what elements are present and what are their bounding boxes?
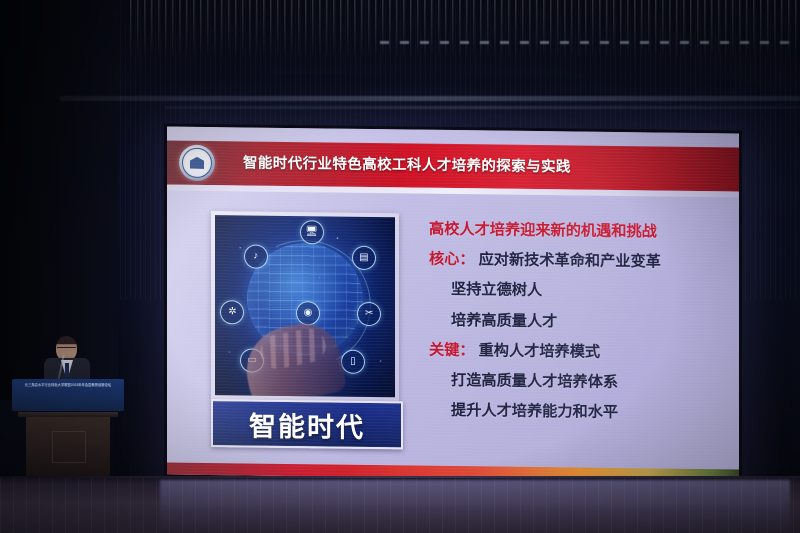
podium-banner-panel: 长三角高水平行业特色大学联盟2023年年会暨教育创新论坛	[12, 379, 124, 411]
id-card-icon: ▤	[352, 246, 376, 270]
emblem-ring	[182, 148, 212, 178]
slide-body-line-lead: 关键：	[429, 341, 475, 360]
slide-body-line-text: 培养高质量人才	[451, 311, 557, 330]
ceiling-rafters	[130, 0, 800, 60]
slide-body-line: 培养高质量人才	[429, 312, 729, 331]
slide-body-line-text: 重构人才培养模式	[479, 341, 601, 360]
slide-body-line-text: 提升人才培养能力和水平	[451, 401, 618, 421]
slide-body-line-text: 打造高质量人才培养体系	[451, 371, 618, 391]
slide-body-line-lead: 核心：	[429, 250, 475, 269]
podium-sign-text: 长三角高水平行业特色大学联盟2023年年会暨教育创新论坛	[18, 383, 118, 405]
music-note-icon: ♪	[244, 244, 268, 268]
slide-body-line: 打造高质量人才培养体系	[429, 373, 729, 392]
image-caption-text: 智能时代	[249, 404, 365, 444]
tools-icon: ✂	[357, 301, 381, 325]
slide-body-line-text: 坚持立德树人	[451, 280, 542, 299]
balcony-rail-lower	[165, 106, 800, 109]
university-emblem-icon	[179, 145, 215, 181]
stage-floor-planks	[0, 478, 800, 533]
slide-body-line-text: 应对新技术革命和产业变革	[479, 251, 661, 271]
podium: 长三角高水平行业特色大学联盟2023年年会暨教育创新论坛	[12, 379, 124, 481]
projection-screen-frame: 智能时代行业特色高校工科人才培养的探索与实践 🖥♪▤✲◉✂▭▯	[164, 123, 742, 487]
gear-icon: ✲	[220, 300, 244, 324]
slide-body-line: 提升人才培养能力和水平	[429, 403, 729, 422]
slide-image-frame: 🖥♪▤✲◉✂▭▯	[211, 211, 399, 401]
auditorium-scene: 智能时代行业特色高校工科人才培养的探索与实践 🖥♪▤✲◉✂▭▯	[0, 0, 800, 533]
slide-body-line: 坚持立德树人	[429, 282, 729, 301]
slide-body-line: 核心：应对新技术革命和产业变革	[429, 252, 729, 271]
presentation-slide: 智能时代行业特色高校工科人才培养的探索与实践 🖥♪▤✲◉✂▭▯	[167, 127, 739, 482]
slide-body-line-text: 高校人才培养迎来新的机遇和挑战	[429, 220, 657, 241]
slide-title: 智能时代行业特色高校工科人才培养的探索与实践	[243, 141, 571, 189]
fingerprint-icon: ◉	[296, 301, 320, 325]
ceiling-light-strip	[380, 41, 800, 44]
monitor-icon: 🖥	[300, 220, 324, 244]
podium-body	[26, 417, 110, 481]
balcony-rail	[60, 96, 800, 101]
smart-era-globe-hand-image: 🖥♪▤✲◉✂▭▯	[215, 215, 395, 397]
smartphone-icon: ▯	[341, 350, 365, 374]
slide-body-line: 高校人才培养迎来新的机遇和挑战	[429, 222, 729, 241]
slide-title-bar: 智能时代行业特色高校工科人才培养的探索与实践	[167, 141, 739, 192]
emblem-core-shape	[190, 157, 204, 169]
speaker-tie	[65, 363, 69, 377]
slide-body-line: 关键：重构人才培养模式	[429, 343, 729, 362]
eyeglasses-icon	[57, 347, 76, 352]
slide-body-text: 高校人才培养迎来新的机遇和挑战核心：应对新技术革命和产业变革坚持立德树人培养高质…	[429, 222, 729, 437]
projection-screen: 智能时代行业特色高校工科人才培养的探索与实践 🖥♪▤✲◉✂▭▯	[167, 127, 739, 482]
image-caption-box: 智能时代	[211, 399, 403, 449]
